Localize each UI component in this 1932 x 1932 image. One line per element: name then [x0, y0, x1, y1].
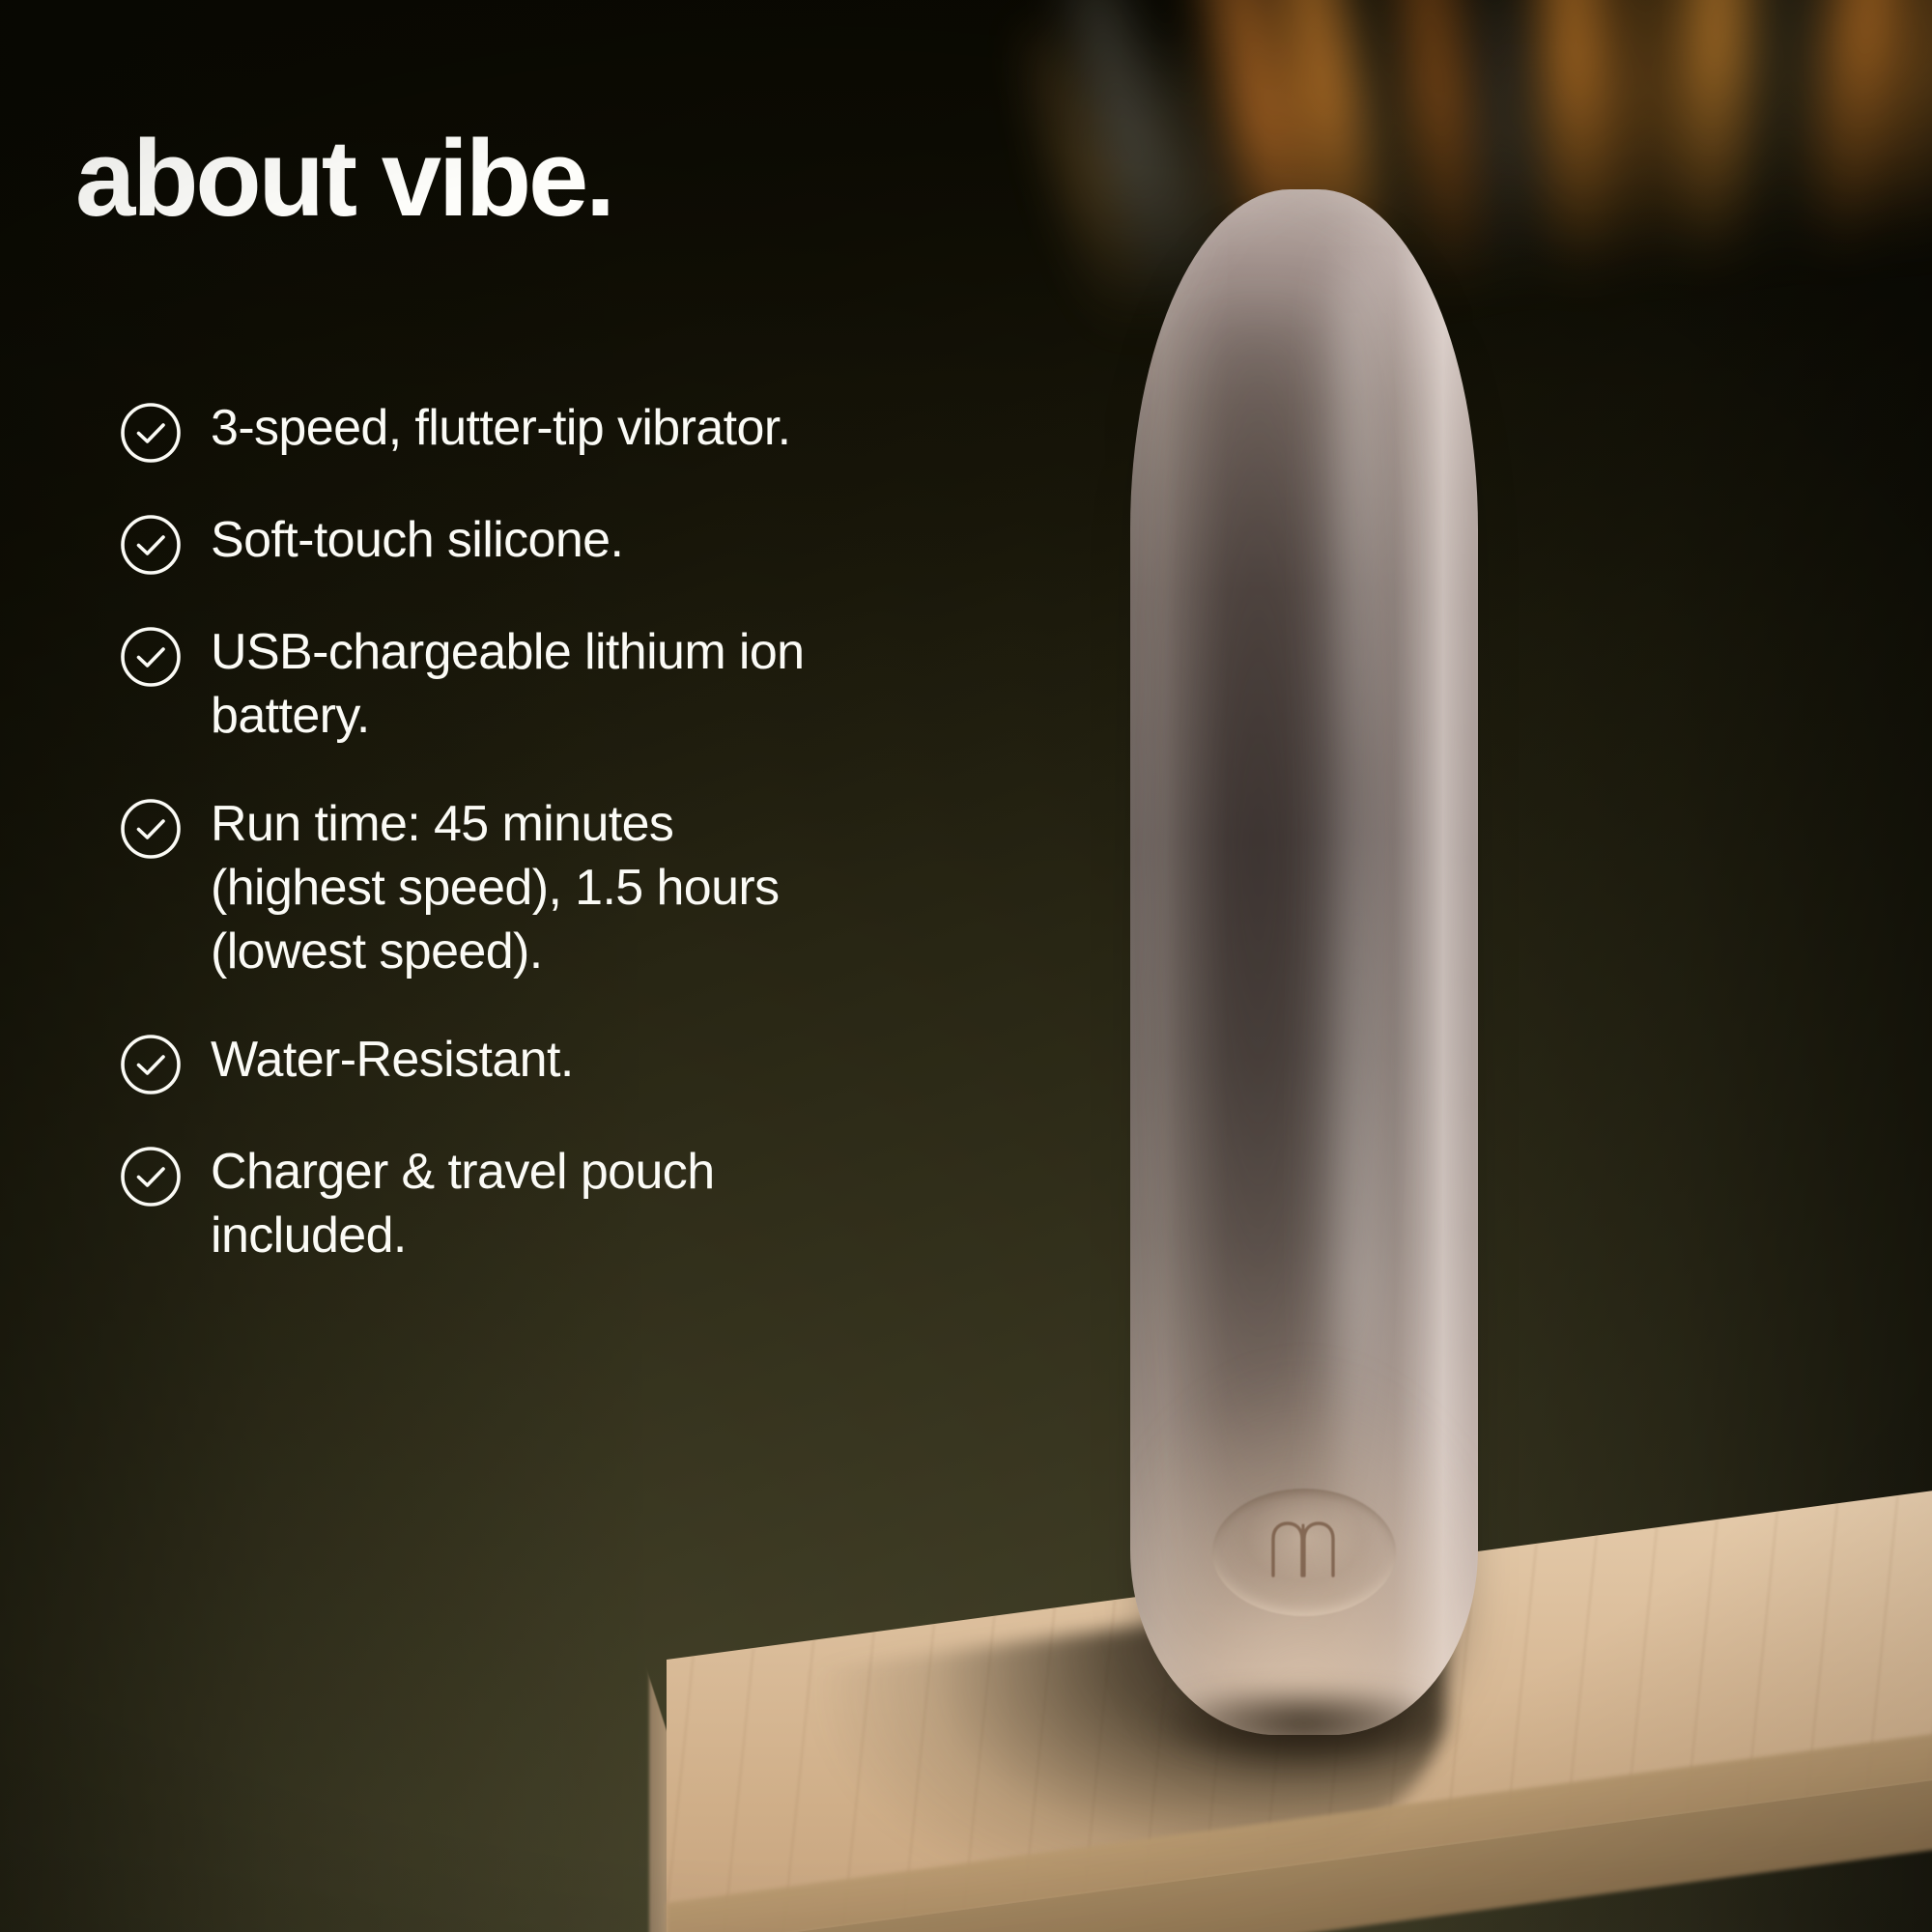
feature-item-2: USB-chargeable lithium ion battery.: [120, 620, 854, 748]
check-circle-icon: [120, 402, 182, 464]
feature-label: Run time: 45 minutes (highest speed), 1.…: [211, 792, 854, 983]
feature-item-4: Water-Resistant.: [120, 1028, 854, 1095]
check-circle-icon: [120, 626, 182, 688]
check-circle-icon: [120, 1146, 182, 1207]
feature-label: USB-chargeable lithium ion battery.: [211, 620, 854, 748]
feature-item-0: 3-speed, flutter-tip vibrator.: [120, 396, 854, 464]
check-circle-icon: [120, 514, 182, 576]
feature-item-1: Soft-touch silicone.: [120, 508, 854, 576]
feature-label: Charger & travel pouch included.: [211, 1140, 854, 1267]
check-circle-icon: [120, 1034, 182, 1095]
feature-label: Water-Resistant.: [211, 1028, 574, 1092]
text-overlay: about vibe. 3-speed, flutter-tip vibrato…: [0, 0, 1932, 1932]
feature-label: Soft-touch silicone.: [211, 508, 623, 572]
page-title: about vibe.: [75, 125, 612, 233]
feature-item-3: Run time: 45 minutes (highest speed), 1.…: [120, 792, 854, 983]
feature-label: 3-speed, flutter-tip vibrator.: [211, 396, 791, 460]
product-feature-image: about vibe. 3-speed, flutter-tip vibrato…: [0, 0, 1932, 1932]
feature-list: 3-speed, flutter-tip vibrator. Soft-touc…: [120, 396, 854, 1267]
feature-item-5: Charger & travel pouch included.: [120, 1140, 854, 1267]
check-circle-icon: [120, 798, 182, 860]
